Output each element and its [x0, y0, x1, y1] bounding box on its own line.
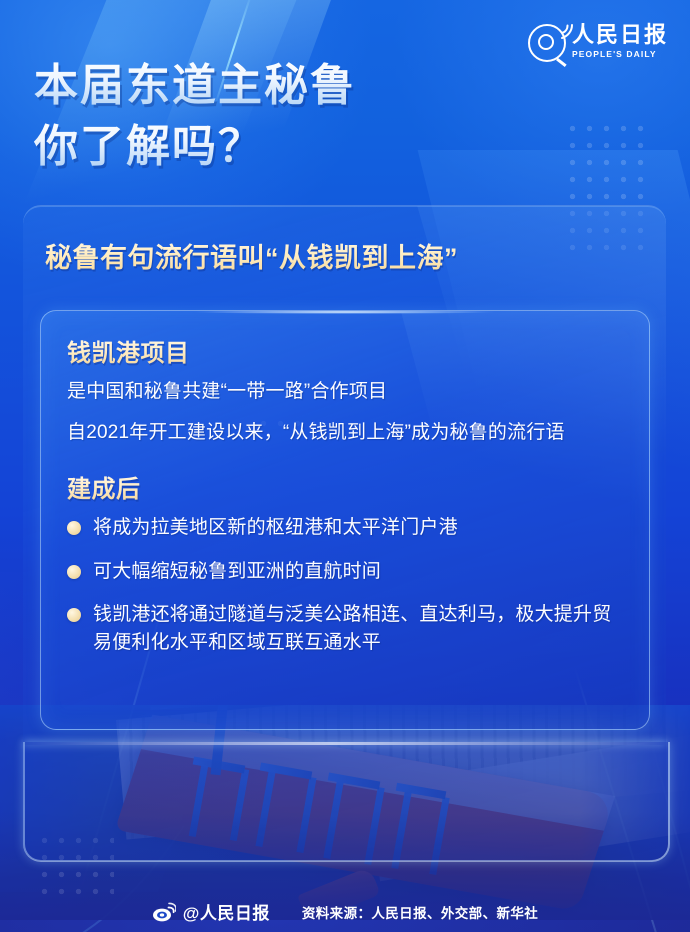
footer: @人民日报 资料来源：人民日报、外交部、新华社 — [0, 899, 690, 924]
weibo-attribution[interactable]: @人民日报 — [152, 899, 270, 924]
logo-chinese-name: 人民日报 — [572, 24, 668, 46]
project-paragraph-1: 是中国和秘鲁共建“一带一路”合作项目 — [67, 378, 623, 407]
section-heading-after-completion: 建成后 — [67, 469, 623, 504]
weibo-handle: @人民日报 — [183, 899, 270, 924]
list-item: 可大幅缩短秘鲁到亚洲的直航时间 — [67, 558, 623, 586]
list-item: 钱凯港还将通过隧道与泛美公路相连、直达利马，极大提升贸易便利化水平和区域互联互通… — [67, 601, 623, 656]
list-item: 将成为拉美地区新的枢纽港和太平洋门户港 — [67, 514, 623, 542]
section-heading-project: 钱凯港项目 — [67, 333, 623, 368]
weibo-icon — [152, 902, 176, 922]
bullet-dot-icon — [67, 608, 81, 622]
benefits-list: 将成为拉美地区新的枢纽港和太平洋门户港 可大幅缩短秘鲁到亚洲的直航时间 钱凯港还… — [67, 514, 623, 657]
info-card: 钱凯港项目 是中国和秘鲁共建“一带一路”合作项目 自2021年开工建设以来，“从… — [40, 310, 650, 730]
subtitle: 秘鲁有句流行语叫“从钱凯到上海” — [45, 236, 458, 275]
list-item-text: 钱凯港还将通过隧道与泛美公路相连、直达利马，极大提升贸易便利化水平和区域互联互通… — [93, 601, 623, 656]
bullet-dot-icon — [67, 521, 81, 535]
source-credit: 资料来源：人民日报、外交部、新华社 — [302, 902, 538, 922]
page-title-line-2: 你了解吗？ — [34, 117, 356, 178]
project-paragraph-2: 自2021年开工建设以来，“从钱凯到上海”成为秘鲁的流行语 — [67, 419, 623, 448]
list-item-text: 将成为拉美地区新的枢纽港和太平洋门户港 — [93, 514, 458, 542]
list-item-text: 可大幅缩短秘鲁到亚洲的直航时间 — [93, 558, 381, 586]
logo-english-name: PEOPLE'S DAILY — [572, 50, 668, 59]
peoples-daily-logo: 人民日报 PEOPLE'S DAILY — [528, 24, 668, 62]
page-title: 本届东道主秘鲁 你了解吗？ — [34, 56, 356, 177]
infographic-poster: 人民日报 PEOPLE'S DAILY 本届东道主秘鲁 你了解吗？ 秘鲁有句流行… — [0, 0, 690, 932]
logo-text-block: 人民日报 PEOPLE'S DAILY — [572, 24, 668, 59]
at-sign-icon — [528, 24, 566, 62]
page-title-line-1: 本届东道主秘鲁 — [34, 56, 356, 117]
card-content: 钱凯港项目 是中国和秘鲁共建“一带一路”合作项目 自2021年开工建设以来，“从… — [41, 311, 649, 657]
signal-wave-icon — [560, 24, 576, 42]
bullet-dot-icon — [67, 565, 81, 579]
